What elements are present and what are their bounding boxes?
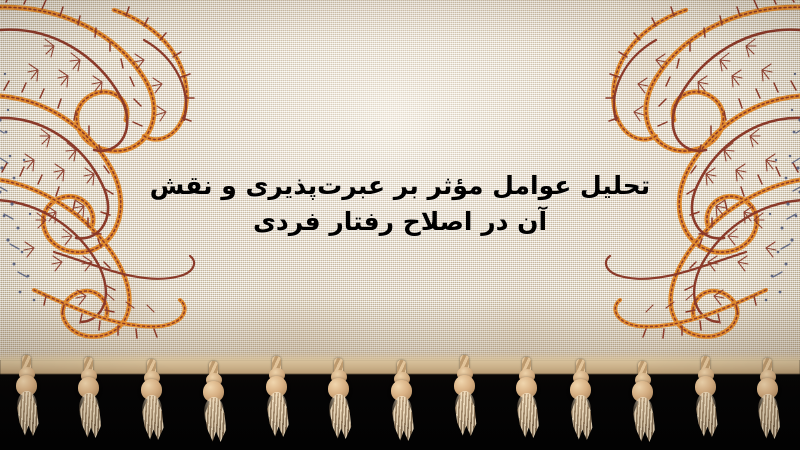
tassel [132,359,172,450]
tassel [561,359,601,450]
tassel-skirt [13,392,41,436]
tassel-skirt [567,396,595,440]
tassel [445,355,485,447]
title-line-1: تحلیل عوامل مؤثر بر عبرت‌پذیری و نقش [0,168,800,204]
tassel [257,356,297,448]
slide-title: تحلیل عوامل مؤثر بر عبرت‌پذیری و نقش آن … [0,168,800,240]
tassel [7,355,47,447]
tassel-fringe [0,358,800,450]
tassel [623,361,663,450]
tassel [686,356,726,448]
slide-canvas: تحلیل عوامل مؤثر بر عبرت‌پذیری و نقش آن … [0,0,800,450]
tassel [319,358,359,450]
tassel [382,360,422,450]
tassel-skirt [692,393,720,437]
tassel-skirt [451,392,479,436]
tassel [748,358,788,450]
tassel [507,357,547,449]
title-line-2: آن در اصلاح رفتار فردی [0,204,800,240]
tassel [194,361,234,450]
tassel [69,357,109,449]
